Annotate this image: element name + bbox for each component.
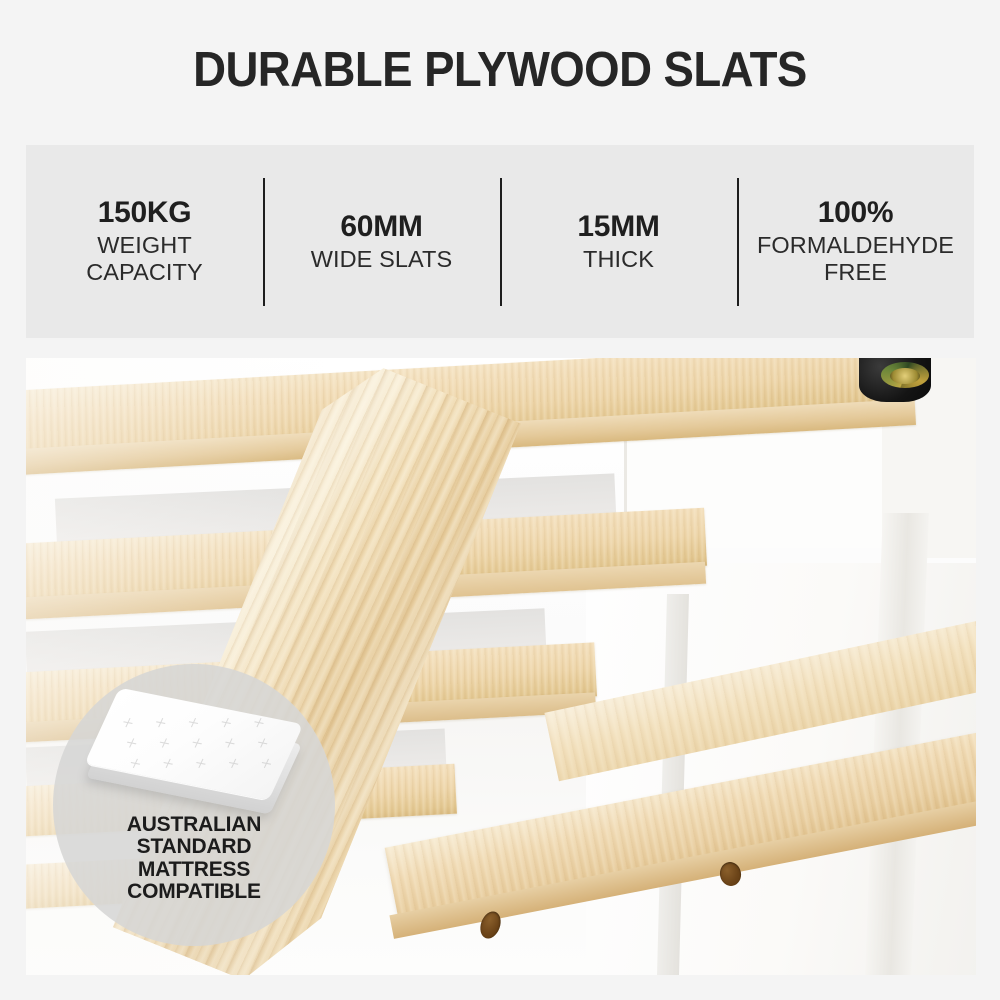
dark-bottle [859, 358, 931, 402]
spec-panel: 150KG WEIGHT CAPACITY 60MM WIDE SLATS 15… [26, 145, 974, 338]
spec-label: WIDE SLATS [311, 246, 453, 273]
page-title-wrap: DURABLE PLYWOOD SLATS [0, 46, 1000, 95]
spec-value: 150KG [98, 196, 192, 230]
bottle-label-inner [890, 368, 920, 384]
spec-item-weight-capacity: 150KG WEIGHT CAPACITY [26, 196, 263, 286]
spec-item-wide-slats: 60MM WIDE SLATS [263, 210, 500, 273]
spec-item-formaldehyde-free: 100% FORMALDEHYDE FREE [737, 196, 974, 286]
spec-value: 15MM [577, 210, 659, 244]
spec-label: FORMALDEHYDE FREE [757, 232, 954, 287]
mattress-icon [94, 688, 294, 806]
product-photo: AUSTRALIAN STANDARD MATTRESS COMPATIBLE [26, 358, 976, 975]
mattress-compatible-badge: AUSTRALIAN STANDARD MATTRESS COMPATIBLE [53, 664, 335, 946]
spec-label: THICK [583, 246, 654, 273]
badge-text: AUSTRALIAN STANDARD MATTRESS COMPATIBLE [127, 814, 262, 903]
page-title: DURABLE PLYWOOD SLATS [193, 46, 807, 95]
spec-value: 60MM [340, 210, 422, 244]
spec-value: 100% [818, 196, 894, 230]
product-feature-image: DURABLE PLYWOOD SLATS 150KG WEIGHT CAPAC… [0, 0, 1000, 1000]
spec-label: WEIGHT CAPACITY [86, 232, 203, 287]
spec-item-thickness: 15MM THICK [500, 210, 737, 273]
